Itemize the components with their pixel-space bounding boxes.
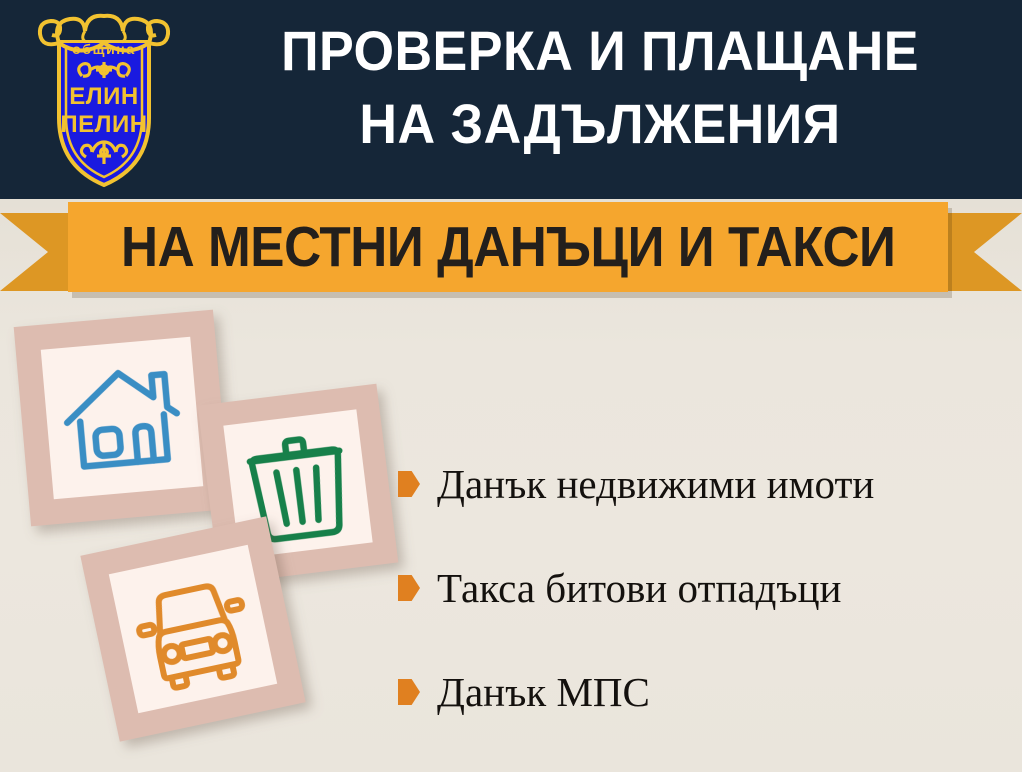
bullet-arrow-icon <box>398 471 420 497</box>
bullet-arrow-icon <box>398 575 420 601</box>
coat-of-arms-elin-pelin: община ЕЛИН ПЕЛИН <box>28 6 180 192</box>
page-title: ПРОВЕРКА И ПЛАЩАНЕ НА ЗАДЪЛЖЕНИЯ <box>190 14 1010 160</box>
list-item-label: Данък МПС <box>437 669 650 715</box>
list-item-label: Такса битови отпадъци <box>437 565 841 611</box>
poster-canvas: община ЕЛИН ПЕЛИН ПРОВЕРКА И ПЛАЩАНЕ НА … <box>0 0 1022 772</box>
list-item[interactable]: Данък недвижими имоти <box>398 432 1008 536</box>
header-bar: община ЕЛИН ПЕЛИН ПРОВЕРКА И ПЛАЩАНЕ НА … <box>0 0 1022 199</box>
list-item[interactable]: Данък МПС <box>398 640 1008 744</box>
ribbon-band: НА МЕСТНИ ДАНЪЦИ И ТАКСИ <box>68 202 948 292</box>
page-title-line-1: ПРОВЕРКА И ПЛАЩАНЕ <box>219 14 982 87</box>
stamp-vehicle <box>80 516 305 741</box>
page-title-line-2: НА ЗАДЪЛЖЕНИЯ <box>219 87 982 160</box>
list-item-label: Данък недвижими имоти <box>437 461 874 507</box>
crest-label-line1: ЕЛИН <box>69 83 138 110</box>
tax-type-list: Данък недвижими имоти Такса битови отпад… <box>398 432 1008 744</box>
list-item[interactable]: Такса битови отпадъци <box>398 536 1008 640</box>
stamp-property <box>14 310 231 527</box>
subtitle-ribbon: НА МЕСТНИ ДАНЪЦИ И ТАКСИ <box>0 197 1022 307</box>
bullet-arrow-icon <box>398 679 420 705</box>
ribbon-label: НА МЕСТНИ ДАНЪЦИ И ТАКСИ <box>121 219 895 276</box>
crest-label-top: община <box>72 41 135 57</box>
crest-label-line2: ПЕЛИН <box>60 111 147 138</box>
